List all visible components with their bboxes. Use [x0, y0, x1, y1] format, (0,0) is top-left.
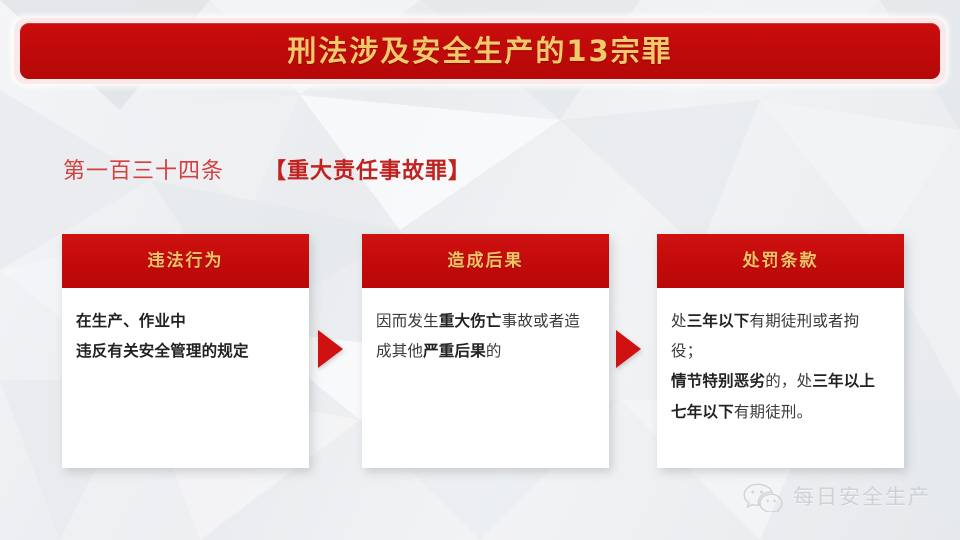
body-text: 有期徒刑。	[734, 403, 813, 421]
card-text-line: 处三年以下有期徒刑或者拘役；	[671, 306, 890, 366]
slide-canvas: 刑法涉及安全生产的13宗罪 第一百三十四条 【重大责任事故罪】 违法行为 在生产…	[0, 0, 960, 540]
page-title: 刑法涉及安全生产的13宗罪	[287, 37, 672, 66]
watermark-text: 每日安全生产	[793, 487, 931, 508]
card-header-penalty: 处罚条款	[657, 234, 904, 288]
article-subtitle: 第一百三十四条 【重大责任事故罪】	[63, 161, 471, 183]
body-text: 的	[486, 342, 502, 360]
article-number: 第一百三十四条	[63, 159, 224, 184]
emphasis-text: 三年以下	[687, 312, 750, 330]
watermark: 每日安全生产	[742, 482, 931, 512]
crime-name: 【重大责任事故罪】	[264, 159, 471, 184]
body-text: 因而发生	[376, 312, 439, 330]
title-banner: 刑法涉及安全生产的13宗罪	[14, 18, 946, 84]
arrow-right-icon	[616, 330, 641, 368]
card-body-penalty: 处三年以下有期徒刑或者拘役；情节特别恶劣的，处三年以上七年以下有期徒刑。	[657, 288, 904, 427]
emphasis-text: 情节特别恶劣	[671, 372, 765, 390]
card-text-line: 违反有关安全管理的规定	[76, 336, 295, 366]
card-header-label: 处罚条款	[743, 253, 819, 270]
card-penalty: 处罚条款 处三年以下有期徒刑或者拘役；情节特别恶劣的，处三年以上七年以下有期徒刑…	[657, 234, 904, 468]
card-text-line: 在生产、作业中	[76, 306, 295, 336]
card-header-consequence: 造成后果	[362, 234, 609, 288]
body-text: 的，处	[765, 372, 812, 390]
card-text-line: 因而发生重大伤亡事故或者造成其他严重后果的	[376, 306, 595, 366]
emphasis-text: 违反有关安全管理的规定	[76, 342, 249, 360]
emphasis-text: 在生产、作业中	[76, 312, 186, 330]
wechat-icon	[742, 482, 784, 512]
card-body-consequence: 因而发生重大伤亡事故或者造成其他严重后果的	[362, 288, 609, 366]
card-violation: 违法行为 在生产、作业中违反有关安全管理的规定	[62, 234, 309, 468]
arrow-right-icon	[318, 330, 343, 368]
card-text-line: 情节特别恶劣的，处三年以上七年以下有期徒刑。	[671, 366, 890, 426]
body-text: 处	[671, 312, 687, 330]
card-header-label: 违法行为	[148, 253, 224, 270]
card-body-violation: 在生产、作业中违反有关安全管理的规定	[62, 288, 309, 366]
card-consequence: 造成后果 因而发生重大伤亡事故或者造成其他严重后果的	[362, 234, 609, 468]
card-header-label: 造成后果	[448, 253, 524, 270]
emphasis-text: 重大伤亡	[439, 312, 502, 330]
title-banner-inner: 刑法涉及安全生产的13宗罪	[20, 23, 940, 79]
card-header-violation: 违法行为	[62, 234, 309, 288]
emphasis-text: 严重后果	[423, 342, 486, 360]
